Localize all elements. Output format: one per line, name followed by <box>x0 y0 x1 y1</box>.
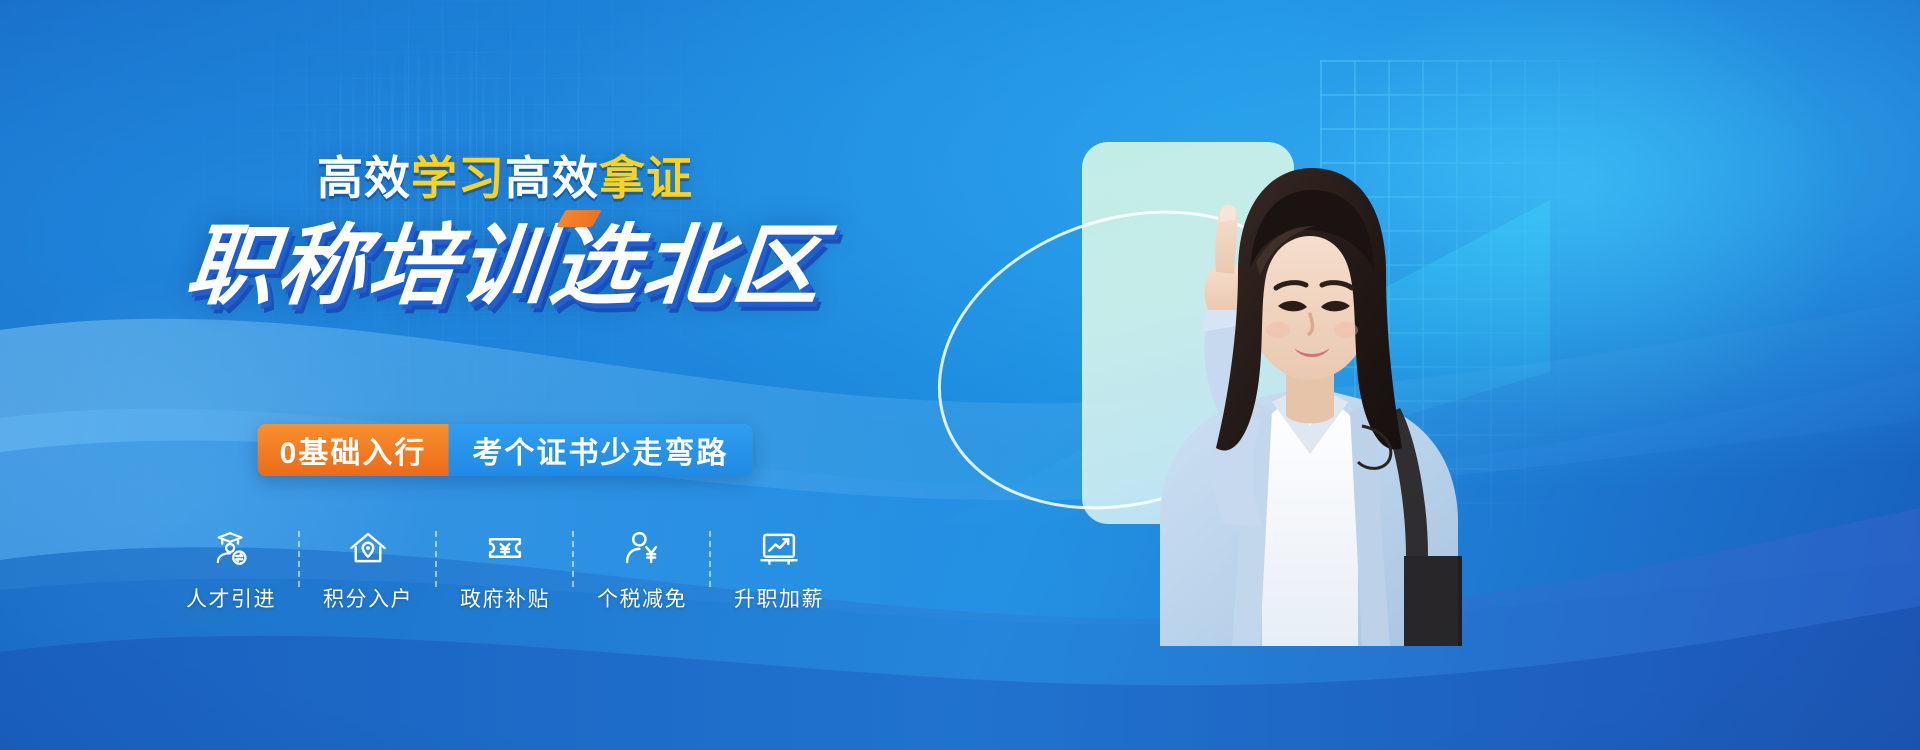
promo-banner: 高效学习高效拿证 职称培训选北区 0基础入行 考个证书少走弯路 <box>0 0 1920 750</box>
vignette-overlay <box>0 0 1920 750</box>
